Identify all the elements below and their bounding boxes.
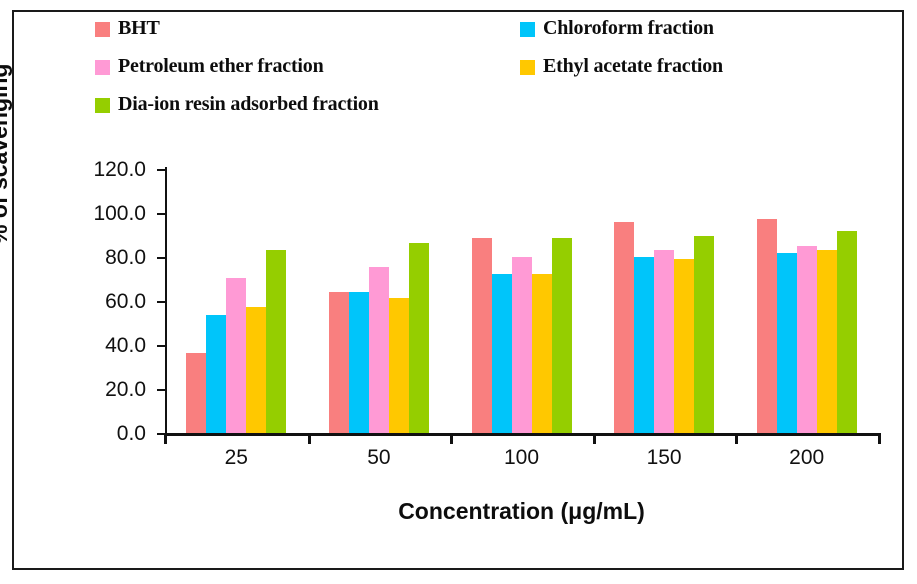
x-axis-title: Concentration (μg/mL)	[165, 498, 878, 525]
legend-row: Dia-ion resin adsorbed fraction	[95, 94, 855, 132]
legend-item[interactable]: Chloroform fraction	[520, 18, 850, 38]
y-axis-tick-label: 20.0	[105, 378, 146, 402]
legend-row: Petroleum ether fractionEthyl acetate fr…	[95, 56, 855, 94]
y-axis-tick-label: 80.0	[105, 246, 146, 270]
x-axis-category-label: 50	[367, 446, 390, 470]
legend-item[interactable]: Dia-ion resin adsorbed fraction	[95, 94, 520, 114]
y-axis-tick: 20.0	[157, 389, 165, 391]
legend-swatch-icon	[520, 60, 535, 75]
legend-label: Chloroform fraction	[543, 18, 714, 38]
bar-dia-ion-resin-adsorbed-fraction-25	[266, 250, 286, 433]
legend-item[interactable]: BHT	[95, 18, 520, 38]
bar-chloroform-fraction-50	[349, 292, 369, 433]
bar-chloroform-fraction-100	[492, 274, 512, 434]
y-axis-tick: 40.0	[157, 345, 165, 347]
figure-canvas: BHTChloroform fractionPetroleum ether fr…	[0, 0, 917, 584]
x-axis-tick	[878, 433, 881, 444]
y-axis-tick: 60.0	[157, 301, 165, 303]
bar-petroleum-ether-fraction-150	[654, 250, 674, 433]
legend-swatch-icon	[95, 60, 110, 75]
legend-row: BHTChloroform fraction	[95, 18, 855, 56]
bar-dia-ion-resin-adsorbed-fraction-50	[409, 243, 429, 433]
legend-label: BHT	[118, 18, 160, 38]
bar-ethyl-acetate-fraction-25	[246, 307, 266, 434]
bar-bht-150	[614, 222, 634, 433]
legend-swatch-icon	[95, 22, 110, 37]
legend-item[interactable]: Petroleum ether fraction	[95, 56, 520, 76]
legend-label: Ethyl acetate fraction	[543, 56, 723, 76]
bar-chloroform-fraction-25	[206, 315, 226, 433]
bar-bht-100	[472, 238, 492, 433]
bar-dia-ion-resin-adsorbed-fraction-150	[694, 236, 714, 433]
legend-label: Dia-ion resin adsorbed fraction	[118, 94, 379, 114]
y-axis-tick: 80.0	[157, 257, 165, 259]
bar-ethyl-acetate-fraction-150	[674, 259, 694, 433]
bar-bht-50	[329, 292, 349, 433]
x-axis-tick	[593, 433, 596, 444]
x-axis-tick	[450, 433, 453, 444]
x-axis-category-label: 100	[504, 446, 539, 470]
legend-swatch-icon	[95, 98, 110, 113]
legend-label: Petroleum ether fraction	[118, 56, 324, 76]
y-axis-tick: 120.0	[157, 169, 165, 171]
bar-petroleum-ether-fraction-200	[797, 246, 817, 433]
x-axis-category-label: 200	[789, 446, 824, 470]
legend-swatch-icon	[520, 22, 535, 37]
y-axis-title: % of scavenging	[0, 64, 13, 245]
x-axis-line	[164, 433, 879, 436]
bar-dia-ion-resin-adsorbed-fraction-200	[837, 231, 857, 433]
bar-ethyl-acetate-fraction-100	[532, 274, 552, 434]
bar-bht-25	[186, 353, 206, 433]
bar-ethyl-acetate-fraction-50	[389, 298, 409, 433]
x-axis-category-label: 25	[225, 446, 248, 470]
bar-petroleum-ether-fraction-50	[369, 267, 389, 433]
bar-petroleum-ether-fraction-100	[512, 257, 532, 433]
bar-chloroform-fraction-150	[634, 257, 654, 433]
x-axis-category-label: 150	[647, 446, 682, 470]
bar-chloroform-fraction-200	[777, 253, 797, 433]
bar-bht-200	[757, 219, 777, 434]
legend-item[interactable]: Ethyl acetate fraction	[520, 56, 850, 76]
y-axis-tick-label: 40.0	[105, 334, 146, 358]
x-axis-tick	[735, 433, 738, 444]
y-axis-tick-label: 120.0	[93, 158, 146, 182]
y-axis-tick-label: 0.0	[117, 422, 146, 446]
x-axis-tick-origin	[164, 433, 167, 444]
y-axis-tick-label: 60.0	[105, 290, 146, 314]
x-axis-tick	[308, 433, 311, 444]
chart-legend: BHTChloroform fractionPetroleum ether fr…	[95, 18, 855, 132]
bar-petroleum-ether-fraction-25	[226, 278, 246, 433]
y-axis-tick: 100.0	[157, 213, 165, 215]
y-axis-tick-label: 100.0	[93, 202, 146, 226]
plot-area: 120.0100.080.060.040.020.00.0	[165, 169, 878, 433]
bar-ethyl-acetate-fraction-200	[817, 250, 837, 433]
bar-dia-ion-resin-adsorbed-fraction-100	[552, 238, 572, 433]
